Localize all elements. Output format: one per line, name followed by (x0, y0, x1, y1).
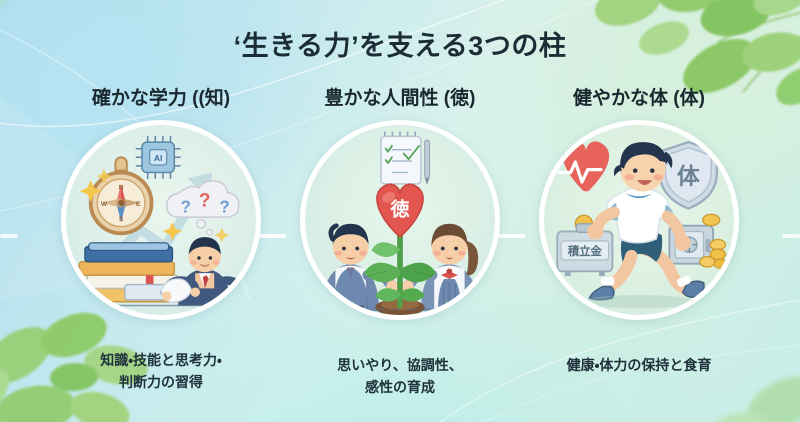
pillar-caption-health: 健康・体力の保持と食育 (504, 355, 774, 377)
caption-line: 判断力の習得 (26, 372, 296, 394)
svg-text:N: N (119, 184, 124, 191)
connector-stub-right (782, 234, 800, 238)
pillar-heading-academic: 確かな学力 ((知) (32, 88, 290, 111)
svg-text:積立金: 積立金 (567, 244, 603, 258)
svg-text:?: ? (219, 197, 229, 216)
shield-icon: 体 (660, 142, 717, 209)
svg-text:W: W (101, 201, 108, 208)
svg-text:徳: 徳 (389, 197, 409, 220)
pillar-illustration-humanity-wrap: 徳 (300, 120, 500, 320)
health-scene-svg: 体 積立金 (544, 125, 734, 315)
pillar-caption-academic: 知識・技能と思考力・ 判断力の習得 (26, 350, 296, 393)
pillar-column-humanity: 豊かな人間性 (徳) (271, 88, 529, 320)
pillar-illustration-humanity: 徳 (300, 120, 500, 320)
caption-line: 知識・技能と思考力・ (26, 350, 296, 372)
caption-line: 健康・体力の保持と食育 (504, 355, 774, 377)
pen-icon (425, 140, 430, 185)
heart-virtue-icon: 徳 (377, 184, 423, 237)
svg-text:?: ? (199, 190, 211, 211)
pillar-heading-health: 健やかな体 (体) (510, 88, 768, 111)
pillar-illustration-health-wrap: 体 積立金 (539, 120, 739, 320)
caption-line: 感性の育成 (265, 377, 535, 399)
svg-text:E: E (136, 201, 141, 208)
humanity-scene-svg: 徳 (305, 125, 495, 315)
pillar-caption-humanity: 思いやり、協調性、 感性の育成 (265, 355, 535, 398)
infographic-canvas: ‘生きる力’を支える3つの柱 確かな学力 ((知) AI (0, 0, 800, 422)
caption-line: 思いやり、協調性、 (265, 355, 535, 377)
page-title: ‘生きる力’を支える3つの柱 (0, 24, 800, 63)
heartbeat-icon (559, 141, 609, 191)
svg-text:AI: AI (154, 153, 163, 163)
svg-text:体: 体 (677, 164, 700, 190)
pillar-heading-humanity: 豊かな人間性 (徳) (271, 88, 529, 111)
pillar-illustration-academic-wrap: AI (61, 120, 261, 320)
connector-stub-left (0, 234, 18, 238)
checklist-notepad-icon (381, 131, 429, 184)
ai-chip-icon: AI (136, 136, 180, 178)
pillar-column-health: 健やかな体 (体) 体 (510, 88, 768, 320)
pillar-column-academic: 確かな学力 ((知) AI (32, 88, 290, 320)
svg-text:S: S (119, 216, 124, 223)
academic-scene-svg: AI (66, 125, 256, 315)
pillar-illustration-health: 体 積立金 (539, 120, 739, 320)
svg-text:?: ? (180, 197, 190, 216)
pillar-illustration-academic: AI (61, 120, 261, 320)
